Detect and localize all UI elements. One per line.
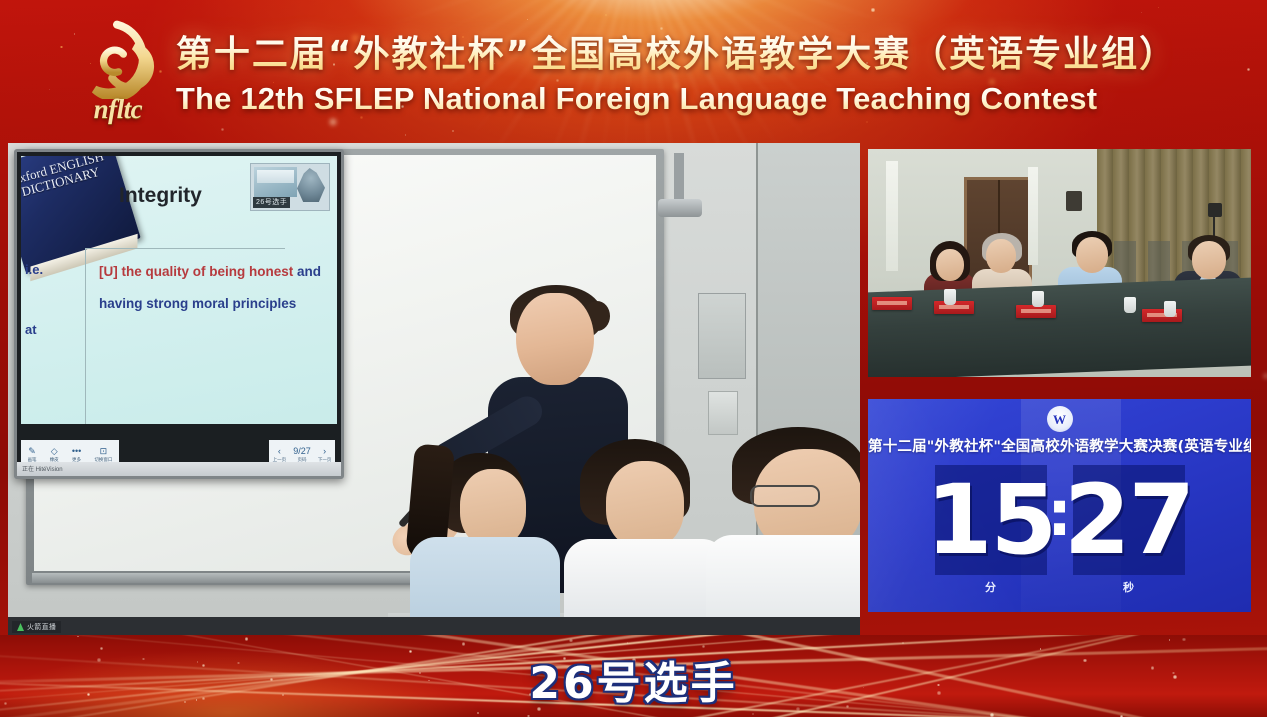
smartboard-tool-switch-window[interactable]: ⊡ 切换窗口 — [94, 447, 112, 462]
students-group — [388, 435, 860, 635]
watermark-text: 火箭直播 — [27, 622, 56, 632]
main-classroom-video[interactable]: Integrity Oxford ENGLISH DICTIONARY Inte… — [8, 143, 860, 635]
slide-vertical-divider — [85, 248, 86, 424]
slide-side-note-1: i.e. — [25, 262, 43, 277]
projector-head — [658, 199, 702, 217]
water-cup-4 — [1164, 301, 1176, 317]
judges-table — [868, 277, 1251, 377]
smartboard-status-bar: 正在 HitéVision — [17, 462, 341, 476]
watermark-logo-icon — [17, 623, 24, 631]
judge-nameplate-4 — [1142, 309, 1182, 322]
wall-control-box — [708, 391, 738, 435]
timer-minutes-unit: 分 — [935, 579, 1047, 595]
judge-nameplate-1 — [872, 297, 912, 310]
logo-wordmark: nfltc — [70, 94, 166, 125]
projector-arm — [674, 153, 684, 205]
slide-page-indicator: 9/27 页码 — [293, 447, 311, 462]
presentation-slide: Oxford ENGLISH DICTIONARY Integrity 26号选… — [21, 156, 337, 424]
contest-seal-icon: W — [1047, 406, 1073, 432]
timer-minutes-box: 15 — [935, 465, 1047, 575]
classroom-scene: Integrity Oxford ENGLISH DICTIONARY Inte… — [8, 143, 860, 635]
smartboard-tool-pen[interactable]: ✎ 画笔 — [28, 447, 37, 462]
contest-header-banner: nfltc 第十二届“外教社杯”全国高校外语教学大赛（英语专业组） The 12… — [0, 0, 1267, 142]
water-cup-1 — [944, 289, 956, 305]
seal-initials: W — [1053, 413, 1066, 426]
slide-picture-in-picture: 26号选手 — [250, 163, 330, 211]
smartboard-status-text: 正在 HitéVision — [22, 464, 63, 473]
timer-panel-title: 第十二届"外教社杯"全国高校外语教学大赛决赛(英语专业组） — [868, 435, 1251, 456]
student-figure-2 — [560, 439, 728, 635]
definition-text-b: and — [297, 264, 321, 279]
lower-third-banner: 26号选手 — [0, 635, 1267, 717]
slide-definition-line-1: [U] the quality of being honest and — [99, 264, 321, 279]
definition-text-a: the quality of being honest — [122, 264, 298, 279]
judges-room-scene — [868, 149, 1251, 377]
teacher-head — [516, 293, 594, 385]
wall-panel — [698, 293, 746, 379]
stream-watermark: 火箭直播 — [12, 621, 61, 633]
contest-title-chinese: 第十二届“外教社杯”全国高校外语教学大赛（英语专业组） — [176, 25, 1177, 77]
slide-definition-line-2: having strong moral principles — [99, 296, 296, 311]
timer-seconds-unit: 秒 — [1073, 579, 1185, 595]
timer-minutes: 15 — [926, 472, 1056, 568]
more-icon: ••• — [72, 447, 81, 456]
slide-title: Integrity — [119, 184, 202, 208]
definition-pos-marker: [U] — [99, 264, 122, 279]
eraser-icon: ◇ — [51, 447, 58, 456]
slide-prev-button[interactable]: ‹ 上一页 — [273, 447, 287, 462]
smartboard-display[interactable]: Oxford ENGLISH DICTIONARY Integrity 26号选… — [14, 149, 344, 479]
chevron-right-icon: › — [323, 447, 326, 456]
timer-seconds-box: 27 — [1073, 465, 1185, 575]
glasses-icon — [750, 485, 820, 507]
water-cup-2 — [1032, 291, 1044, 307]
contestant-caption: 26号选手 — [0, 647, 1267, 711]
timer-unit-labels: 分 秒 — [868, 579, 1251, 595]
judges-panel-video[interactable] — [868, 149, 1251, 377]
timer-separator: : — [1047, 490, 1073, 538]
countdown-timer-panel: W 第十二届"外教社杯"全国高校外语教学大赛决赛(英语专业组） 15 : 27 … — [868, 399, 1251, 612]
video-bottom-bar — [8, 617, 860, 635]
wall-speaker — [1066, 191, 1082, 211]
room-window-left — [886, 161, 898, 271]
nfltc-logo: nfltc — [74, 19, 160, 123]
contest-title-english: The 12th SFLEP National Foreign Language… — [176, 81, 1177, 117]
slide-divider — [85, 248, 285, 249]
pen-icon: ✎ — [28, 447, 36, 456]
water-cup-3 — [1124, 297, 1136, 313]
student-figure-1 — [410, 445, 560, 635]
smartboard-tool-eraser[interactable]: ◇ 橡皮 — [50, 447, 59, 462]
student-figure-3 — [706, 431, 860, 635]
spiral-logo-icon — [77, 19, 157, 99]
dictionary-image: Oxford ENGLISH DICTIONARY — [21, 156, 141, 273]
smartboard-tool-more[interactable]: ••• 更多 — [72, 447, 81, 462]
window-switch-icon: ⊡ — [100, 447, 108, 456]
slide-next-button[interactable]: › 下一页 — [318, 447, 332, 462]
pip-label: 26号选手 — [253, 197, 290, 208]
chevron-left-icon: ‹ — [278, 447, 281, 456]
timer-seconds: 27 — [1064, 472, 1194, 568]
timer-clock: 15 : 27 — [868, 465, 1251, 575]
slide-side-note-2: at — [25, 322, 37, 337]
